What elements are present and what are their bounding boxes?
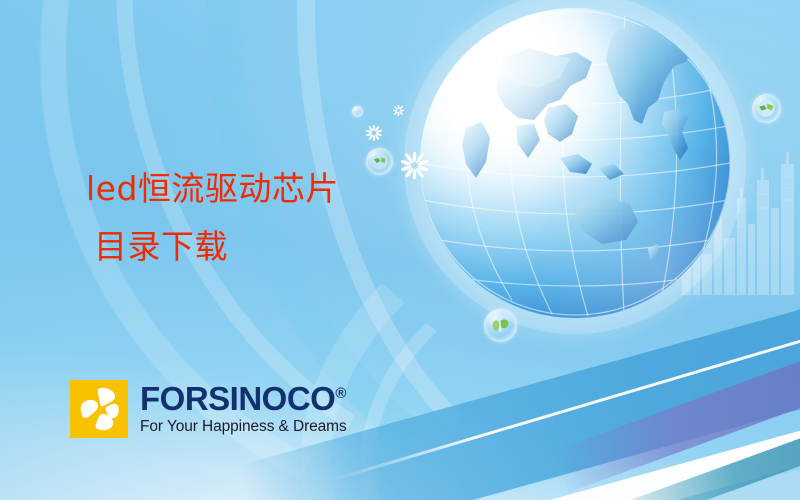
- logo-name-word: FORSINOCO: [140, 380, 335, 417]
- headline-line-2: 目录下载: [86, 218, 339, 276]
- headline-line-1: led恒流驱动芯片: [86, 169, 339, 208]
- earth-globe-icon: [420, 8, 730, 318]
- headline-text: led恒流驱动芯片 目录下载: [86, 160, 339, 276]
- registered-mark: ®: [335, 385, 346, 402]
- bubble-globe-1-icon: [366, 148, 393, 175]
- bubble-globe-2-icon: [752, 94, 781, 123]
- globe-sphere: [420, 8, 730, 318]
- logo-tagline: For Your Happiness & Dreams: [140, 418, 347, 437]
- promo-banner: led恒流驱动芯片 目录下载 FORSINOCO® For Your Happi…: [0, 0, 800, 500]
- flower-burst-large-icon: [401, 152, 428, 184]
- four-petal-flower-icon: [70, 380, 128, 438]
- flower-burst-tiny-icon: [393, 103, 404, 121]
- logo-text-block: FORSINOCO® For Your Happiness & Dreams: [140, 382, 347, 437]
- logo-company-name: FORSINOCO®: [140, 382, 347, 415]
- bubble-small-icon: [352, 106, 363, 117]
- bubble-leaf-1-icon: [484, 309, 517, 342]
- flower-burst-small-icon: [366, 125, 382, 146]
- company-logo[interactable]: FORSINOCO® For Your Happiness & Dreams: [70, 380, 347, 438]
